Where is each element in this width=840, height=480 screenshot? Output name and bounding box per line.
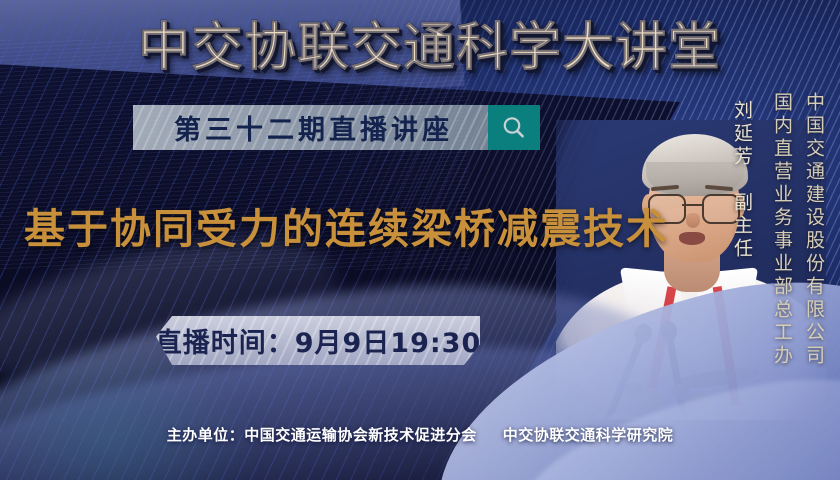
- speaker-name-title: 刘延芳 副主任: [729, 100, 756, 261]
- episode-label-container: 第三十二期直播讲座: [133, 105, 488, 150]
- footer-institute: 中交协联交通科学研究院: [503, 426, 674, 444]
- search-button[interactable]: [488, 105, 540, 150]
- eyeglasses-bridge: [682, 204, 702, 206]
- nose: [686, 213, 700, 228]
- speaker-department: 国内直营业务事业部总工办: [769, 92, 796, 368]
- footer: 主办单位：中国交通运输协会新技术促进分会中交协联交通科学研究院: [0, 424, 840, 445]
- live-time-badge: 直播时间：9月9日19:30: [156, 316, 480, 365]
- flower-arrangement: [556, 382, 756, 420]
- lecture-title: 基于协同受力的连续梁桥减震技术: [24, 204, 669, 254]
- page-title: 中交协联交通科学大讲堂: [138, 18, 721, 78]
- live-time-label: 直播时间：9月9日19:30: [156, 321, 480, 360]
- search-icon: [500, 114, 528, 142]
- mouth: [679, 232, 705, 245]
- live-lecture-poster: 中交协联交通科学大讲堂 第三十二期直播讲座 基于协同受力的连续梁桥减震技术 直播…: [0, 0, 840, 480]
- footer-organizer: 主办单位：中国交通运输协会新技术促进分会: [167, 426, 477, 444]
- speaker-company: 中国交通建设股份有限公司: [801, 92, 828, 368]
- episode-bar: 第三十二期直播讲座: [133, 105, 540, 150]
- episode-label: 第三十二期直播讲座: [174, 108, 453, 147]
